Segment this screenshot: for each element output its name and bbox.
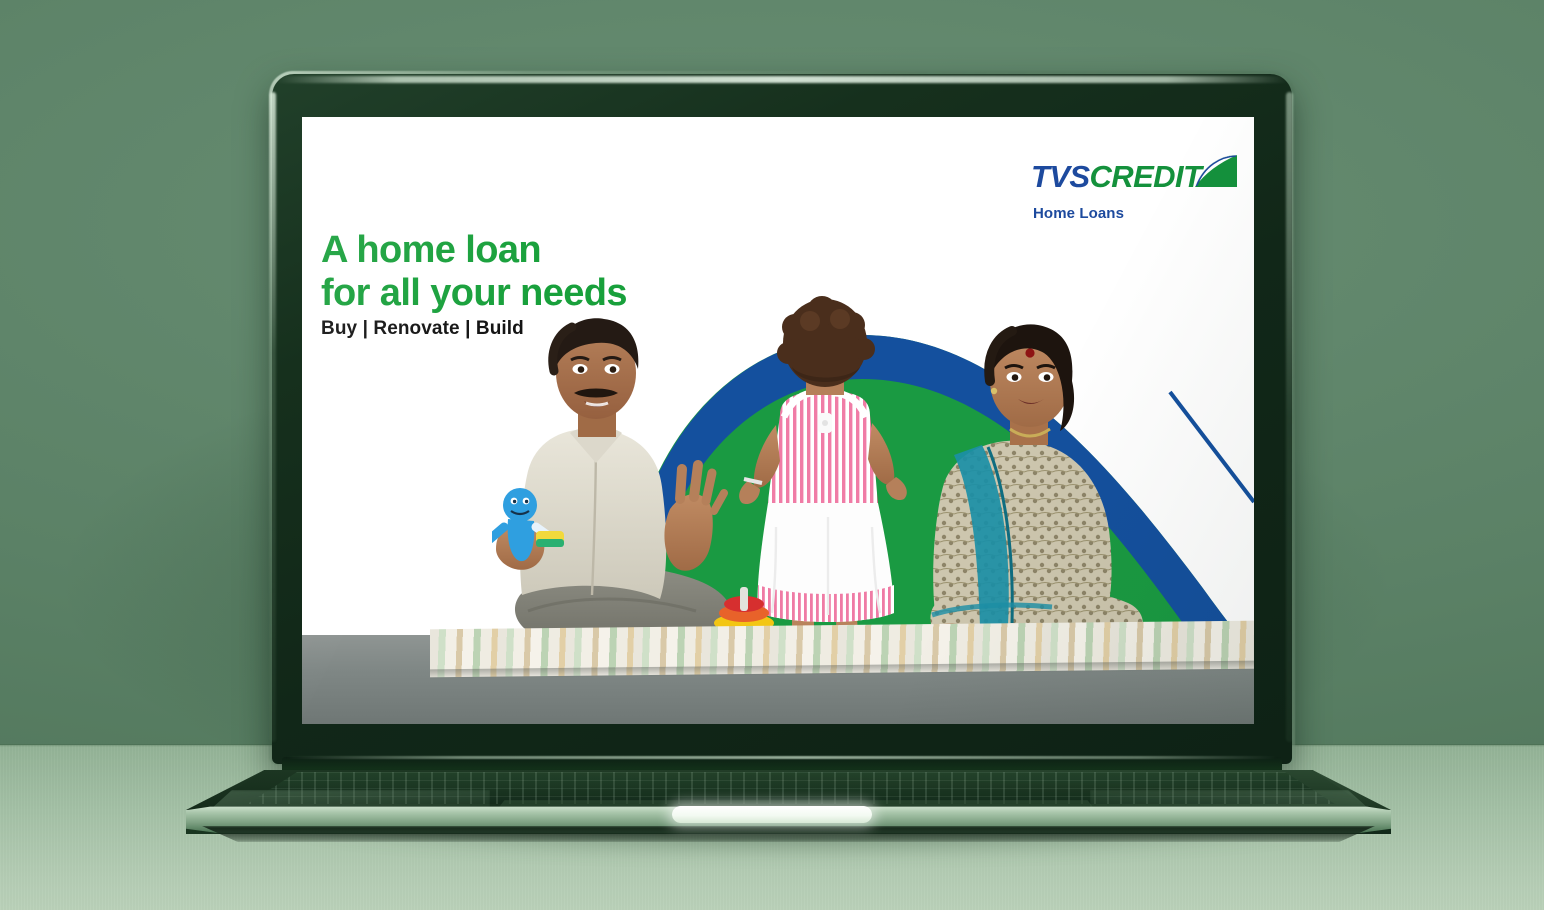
logo-tagline: Home Loans <box>1033 205 1124 222</box>
presentation-slide: A home loan for all your needs Buy | Ren… <box>302 117 1254 724</box>
hinge-highlight <box>286 756 1278 759</box>
accent-line <box>1170 392 1254 502</box>
brand-logo[interactable]: TVSCREDIT Home Loans <box>1031 159 1233 239</box>
logo-credit-text: CREDIT <box>1090 159 1202 194</box>
mother-figure <box>930 324 1142 651</box>
product-photo-scene: A home loan for all your needs Buy | Ren… <box>0 0 1544 910</box>
logo-swoosh-icon <box>1191 153 1239 189</box>
family-photo <box>492 295 1172 675</box>
lid-top-highlight <box>276 76 1288 83</box>
laptop-screen[interactable]: A home loan for all your needs Buy | Ren… <box>302 117 1254 724</box>
page-title: A home loan for all your needs <box>321 229 627 314</box>
logo-wordmark: TVSCREDIT <box>1031 159 1201 195</box>
lid-right-highlight <box>1286 92 1293 742</box>
father-figure <box>492 318 733 649</box>
laptop-front-shadow <box>190 826 1387 842</box>
laptop-device: A home loan for all your needs Buy | Ren… <box>0 0 1544 910</box>
logo-tvs-text: TVS <box>1031 159 1090 194</box>
laptop-front-notch <box>672 806 872 823</box>
lid-left-highlight <box>270 92 276 742</box>
father-open-hand <box>664 465 724 571</box>
page-subtitle: Buy | Renovate | Build <box>321 318 524 340</box>
